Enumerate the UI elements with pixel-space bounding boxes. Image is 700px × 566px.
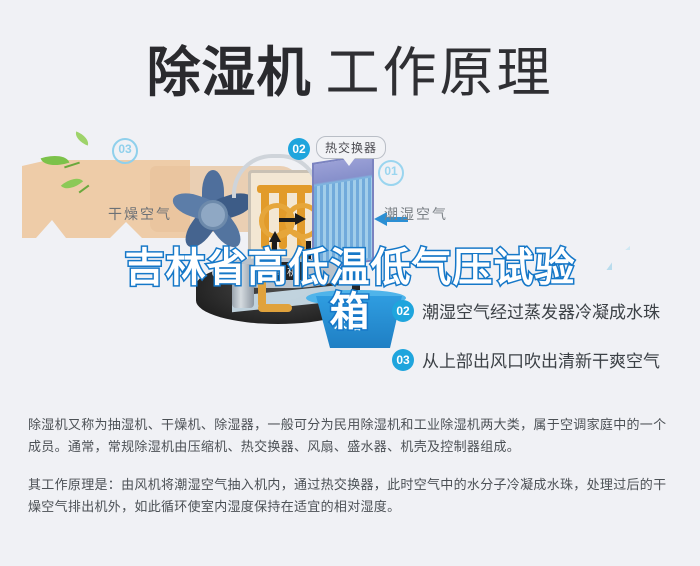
fan-hub-icon xyxy=(198,200,228,230)
condenser-block-icon xyxy=(312,153,374,271)
body-paragraph-2: 其工作原理是：由风机将潮湿空气抽入机内，通过热交换器，此时空气中的水分子冷凝成水… xyxy=(28,474,676,518)
legend-badge-02: 02 xyxy=(392,300,414,322)
airflow-arrow-up-tail-icon xyxy=(272,241,277,259)
title-part-one: 除湿机 xyxy=(147,43,312,103)
legend-text-03: 从上部出风口吹出清新干爽空气 xyxy=(422,347,660,372)
dry-air-label: 干燥空气 xyxy=(108,204,172,224)
humid-air-label: 潮湿空气 xyxy=(384,204,448,224)
legend-badge-03: 03 xyxy=(392,349,414,371)
legend-item: 02 潮湿空气经过蒸发器冷凝成水珠 xyxy=(392,298,692,323)
compressor-label: 压缩机 xyxy=(258,262,304,280)
poster-canvas: 除湿机工作原理 xyxy=(0,0,700,566)
compressor-cylinder-icon xyxy=(232,264,254,308)
diagram-badge-02: 02 xyxy=(288,138,310,160)
page-title: 除湿机工作原理 xyxy=(0,28,700,107)
body-copy: 除湿机又称为抽湿机、干燥机、除湿器，一般可分为民用除湿机和工业除湿机两大类，属于… xyxy=(28,414,676,534)
airflow-arrow-down-tail-icon xyxy=(306,241,311,259)
title-part-two: 工作原理 xyxy=(326,43,554,103)
legend-item: 03 从上部出风口吹出清新干爽空气 xyxy=(392,347,692,372)
leaf-icon xyxy=(73,131,91,145)
legend-text-02: 潮湿空气经过蒸发器冷凝成水珠 xyxy=(422,298,660,323)
airflow-arrow-right-tail-icon xyxy=(279,218,297,222)
diagram-badge-03: 03 xyxy=(112,138,138,164)
water-tank-label: 水箱 xyxy=(334,314,362,333)
humid-air-swoosh-secondary-icon xyxy=(430,130,630,250)
heat-exchanger-callout: 热交换器 xyxy=(316,136,386,159)
diagram-badge-01: 01 xyxy=(378,160,404,186)
legend-list: 02 潮湿空气经过蒸发器冷凝成水珠 03 从上部出风口吹出清新干爽空气 xyxy=(392,298,692,396)
body-paragraph-1: 除湿机又称为抽湿机、干燥机、除湿器，一般可分为民用除湿机和工业除湿机两大类，属于… xyxy=(28,414,676,458)
refrigerant-tube-icon xyxy=(232,154,320,198)
condenser-fins-icon xyxy=(314,177,372,266)
compressor-pipe-icon xyxy=(258,304,292,312)
